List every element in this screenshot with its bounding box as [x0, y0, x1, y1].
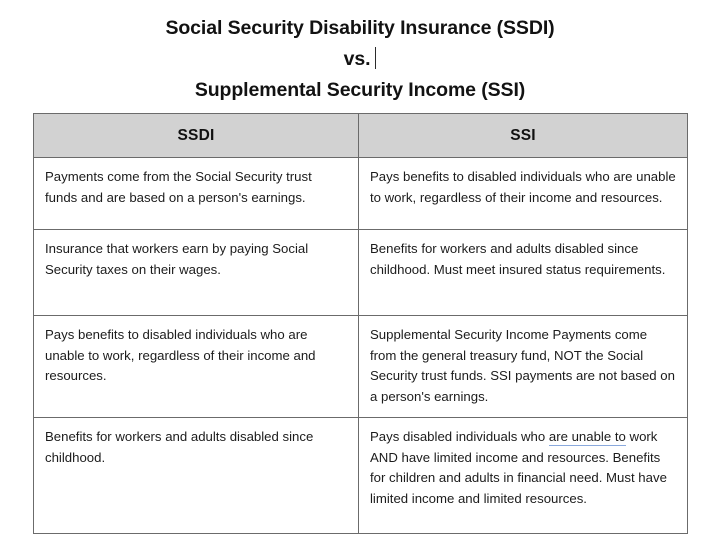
table-header-row: SSDI SSI: [34, 114, 688, 158]
grammar-suggestion-underline[interactable]: are unable to: [549, 429, 626, 446]
title-vs-text: vs.: [344, 48, 371, 70]
cell-text: Benefits for workers and adults disabled…: [45, 427, 347, 468]
cell-ssdi-3: Pays benefits to disabled individuals wh…: [34, 316, 359, 418]
cell-ssi-1: Pays benefits to disabled individuals wh…: [359, 158, 688, 230]
text-cursor-caret: [375, 47, 376, 69]
cell-ssdi-1: Payments come from the Social Security t…: [34, 158, 359, 230]
title-line-vs: vs.: [344, 44, 377, 75]
table-row: Payments come from the Social Security t…: [34, 158, 688, 230]
table-row: Insurance that workers earn by paying So…: [34, 230, 688, 316]
cell-text: Payments come from the Social Security t…: [45, 167, 347, 208]
cell-text-before: Pays disabled individuals who: [370, 429, 549, 444]
table-body: Payments come from the Social Security t…: [34, 158, 688, 534]
title-line-ssi: Supplemental Security Income (SSI): [0, 75, 720, 106]
cell-text: Pays benefits to disabled individuals wh…: [45, 325, 347, 387]
column-header-ssdi: SSDI: [34, 114, 359, 158]
comparison-table-container: SSDI SSI Payments come from the Social S…: [33, 113, 687, 534]
cell-ssi-3: Supplemental Security Income Payments co…: [359, 316, 688, 418]
title-line-ssdi: Social Security Disability Insurance (SS…: [0, 13, 720, 44]
table-row: Pays benefits to disabled individuals wh…: [34, 316, 688, 418]
cell-text-with-suggestion: Pays disabled individuals who are unable…: [370, 427, 676, 509]
comparison-table: SSDI SSI Payments come from the Social S…: [33, 113, 688, 534]
cell-text: Supplemental Security Income Payments co…: [370, 325, 676, 407]
table-row: Benefits for workers and adults disabled…: [34, 418, 688, 534]
document-title: Social Security Disability Insurance (SS…: [0, 0, 720, 106]
document-page: Social Security Disability Insurance (SS…: [0, 0, 720, 557]
cell-text: Benefits for workers and adults disabled…: [370, 239, 676, 280]
column-header-ssi: SSI: [359, 114, 688, 158]
cell-ssi-2: Benefits for workers and adults disabled…: [359, 230, 688, 316]
cell-ssdi-2: Insurance that workers earn by paying So…: [34, 230, 359, 316]
cell-text: Pays benefits to disabled individuals wh…: [370, 167, 676, 208]
cell-ssi-4: Pays disabled individuals who are unable…: [359, 418, 688, 534]
cell-text: Insurance that workers earn by paying So…: [45, 239, 347, 280]
table-header: SSDI SSI: [34, 114, 688, 158]
cell-ssdi-4: Benefits for workers and adults disabled…: [34, 418, 359, 534]
